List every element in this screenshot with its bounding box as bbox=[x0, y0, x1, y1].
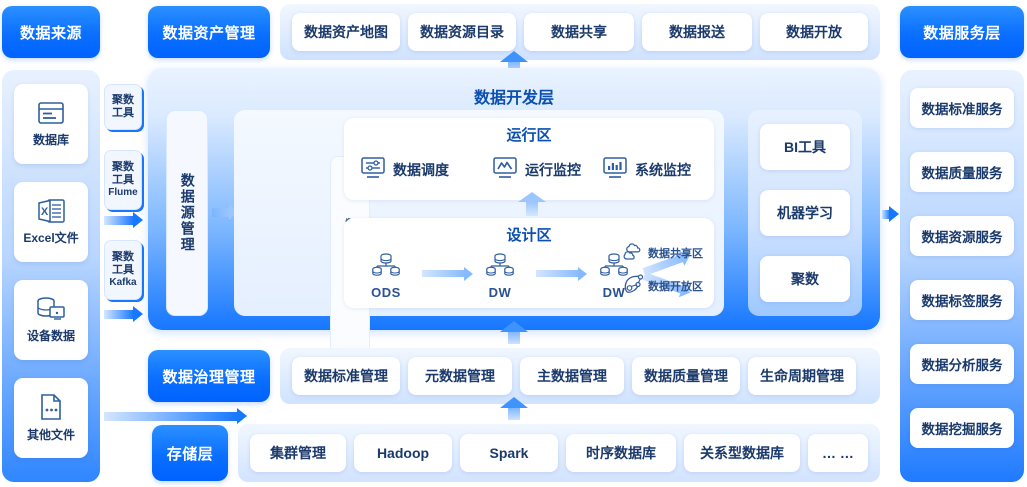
gov-item-standard[interactable]: 数据标准管理 bbox=[292, 357, 400, 395]
db-cluster-icon bbox=[370, 252, 402, 283]
arrow-storage-to-governance bbox=[508, 408, 520, 420]
storage-layer-panel: 集群管理 Hadoop Spark 时序数据库 关系型数据库 … … bbox=[238, 424, 880, 482]
source-item-other-file[interactable]: 其他文件 bbox=[14, 378, 88, 458]
design-output-open[interactable]: 数据开放区 bbox=[622, 274, 703, 297]
gov-item-quality[interactable]: 数据质量管理 bbox=[632, 357, 740, 395]
arrow-governance-to-dev bbox=[508, 332, 520, 344]
device-data-icon bbox=[35, 296, 67, 322]
design-node-ods[interactable]: ODS bbox=[358, 252, 414, 300]
run-zone-item-label: 运行监控 bbox=[525, 160, 581, 180]
db-cluster-icon bbox=[484, 252, 516, 283]
run-zone-item-system[interactable]: 系统监控 bbox=[602, 156, 691, 183]
governance-layer-header: 数据治理管理 bbox=[148, 350, 270, 402]
governance-layer-panel: 数据标准管理 元数据管理 主数据管理 数据质量管理 生命周期管理 bbox=[280, 348, 880, 404]
design-zone-box: 设计区 ODS bbox=[344, 218, 714, 308]
gov-item-lifecycle[interactable]: 生命周期管理 bbox=[748, 357, 856, 395]
gov-item-metadata[interactable]: 元数据管理 bbox=[408, 357, 512, 395]
design-node-label: DW bbox=[489, 285, 512, 300]
run-zone-item-label: 系统监控 bbox=[635, 160, 691, 180]
storage-layer-header: 存储层 bbox=[152, 425, 228, 481]
storage-item-hadoop[interactable]: Hadoop bbox=[354, 434, 452, 472]
run-zone-item-monitor[interactable]: 运行监控 bbox=[492, 156, 581, 183]
asset-item-report[interactable]: 数据报送 bbox=[642, 13, 752, 51]
arrow-datasource-to-factory bbox=[212, 208, 230, 217]
source-item-label: 其他文件 bbox=[27, 426, 75, 443]
arrow-ods-to-dw1 bbox=[422, 270, 466, 277]
run-zone-box: 运行区 数据调度 运行监控 系统监 bbox=[344, 118, 714, 200]
service-item-analysis[interactable]: 数据分析服务 bbox=[910, 344, 1014, 384]
other-file-icon bbox=[38, 393, 64, 421]
tool-line2: 工具 bbox=[112, 264, 134, 277]
database-table-icon bbox=[36, 100, 66, 126]
design-node-dw1[interactable]: DW bbox=[472, 252, 528, 300]
asset-layer-header: 数据资产管理 bbox=[148, 6, 270, 58]
asset-item-map[interactable]: 数据资产地图 bbox=[292, 13, 400, 51]
storage-item-cluster[interactable]: 集群管理 bbox=[250, 434, 346, 472]
scheduler-monitor-icon bbox=[360, 156, 386, 183]
tool-line2: 工具 bbox=[112, 107, 134, 120]
dev-tool-ml[interactable]: 机器学习 bbox=[760, 190, 850, 236]
arrow-source-to-dev-upper bbox=[104, 216, 134, 225]
source-item-excel[interactable]: X Excel文件 bbox=[14, 182, 88, 262]
run-zone-title: 运行区 bbox=[344, 124, 714, 145]
asset-item-catalog[interactable]: 数据资源目录 bbox=[408, 13, 516, 51]
cloud-share-icon bbox=[622, 242, 644, 264]
source-layer-panel: 数据库 X Excel文件 设备数据 其他文件 bbox=[2, 70, 100, 482]
arrow-source-to-dev-lower bbox=[104, 310, 134, 319]
run-monitor-icon bbox=[492, 156, 518, 183]
tool-line1: 聚数 bbox=[112, 161, 134, 174]
arrow-source-to-storage bbox=[104, 412, 238, 421]
design-node-label: ODS bbox=[371, 285, 401, 300]
source-item-label: 数据库 bbox=[33, 131, 69, 148]
collector-tool-flume[interactable]: 聚数 工具 Flume bbox=[104, 150, 142, 210]
run-zone-item-scheduler[interactable]: 数据调度 bbox=[360, 156, 449, 183]
collector-tool-basic[interactable]: 聚数 工具 bbox=[104, 84, 142, 130]
asset-item-share[interactable]: 数据共享 bbox=[524, 13, 634, 51]
source-item-label: Excel文件 bbox=[23, 229, 78, 246]
asset-item-open[interactable]: 数据开放 bbox=[760, 13, 868, 51]
run-zone-item-label: 数据调度 bbox=[393, 160, 449, 180]
service-item-mining[interactable]: 数据挖掘服务 bbox=[910, 408, 1014, 448]
tool-sub: Kafka bbox=[109, 277, 136, 289]
service-item-quality[interactable]: 数据质量服务 bbox=[910, 152, 1014, 192]
dev-tool-bi[interactable]: BI工具 bbox=[760, 124, 850, 170]
collector-tool-kafka[interactable]: 聚数 工具 Kafka bbox=[104, 240, 142, 300]
excel-file-icon: X bbox=[36, 198, 66, 224]
dev-tool-jushu[interactable]: 聚数 bbox=[760, 256, 850, 302]
tool-line1: 聚数 bbox=[112, 251, 134, 264]
asset-layer-panel: 数据资产地图 数据资源目录 数据共享 数据报送 数据开放 bbox=[280, 4, 880, 60]
datasource-management-label: 数据源管理 bbox=[179, 173, 194, 253]
architecture-diagram: 数据来源 数据库 X Excel文件 设备数据 其他文件 bbox=[0, 0, 1027, 487]
storage-item-more[interactable]: … … bbox=[808, 434, 868, 472]
design-output-label: 数据共享区 bbox=[648, 245, 703, 261]
gov-item-master[interactable]: 主数据管理 bbox=[520, 357, 624, 395]
service-layer-header: 数据服务层 bbox=[900, 6, 1024, 58]
dev-layer-title: 数据开发层 bbox=[148, 84, 880, 108]
arrow-dev-to-service bbox=[882, 210, 890, 219]
zones-container: 数据加工厂 运行区 数据调度 运行监控 bbox=[234, 110, 724, 316]
dev-tools-panel: BI工具 机器学习 聚数 bbox=[748, 110, 862, 316]
design-output-share[interactable]: 数据共享区 bbox=[622, 242, 703, 264]
source-layer-header: 数据来源 bbox=[2, 6, 100, 58]
arrow-design-to-run bbox=[526, 202, 538, 216]
source-item-device[interactable]: 设备数据 bbox=[14, 280, 88, 360]
storage-item-tsdb[interactable]: 时序数据库 bbox=[566, 434, 676, 472]
dev-layer-box: 数据开发层 数据源管理 数据加工厂 运行区 数据调度 bbox=[148, 68, 880, 330]
tool-sub: Flume bbox=[108, 187, 137, 199]
service-item-resource[interactable]: 数据资源服务 bbox=[910, 216, 1014, 256]
source-item-database[interactable]: 数据库 bbox=[14, 84, 88, 164]
service-layer-panel: 数据标准服务 数据质量服务 数据资源服务 数据标签服务 数据分析服务 数据挖掘服… bbox=[900, 70, 1024, 482]
service-item-tag[interactable]: 数据标签服务 bbox=[910, 280, 1014, 320]
source-item-label: 设备数据 bbox=[27, 327, 75, 344]
tool-line1: 聚数 bbox=[112, 94, 134, 107]
arrow-dw1-to-dw2 bbox=[536, 270, 580, 277]
storage-item-rdbms[interactable]: 关系型数据库 bbox=[684, 434, 800, 472]
open-network-icon bbox=[622, 274, 644, 297]
datasource-management-box[interactable]: 数据源管理 bbox=[166, 110, 208, 316]
system-monitor-icon bbox=[602, 156, 628, 183]
storage-item-spark[interactable]: Spark bbox=[460, 434, 558, 472]
design-output-label: 数据开放区 bbox=[648, 278, 703, 294]
service-item-standard[interactable]: 数据标准服务 bbox=[910, 88, 1014, 128]
tool-line2: 工具 bbox=[112, 174, 134, 187]
svg-text:X: X bbox=[41, 206, 49, 218]
